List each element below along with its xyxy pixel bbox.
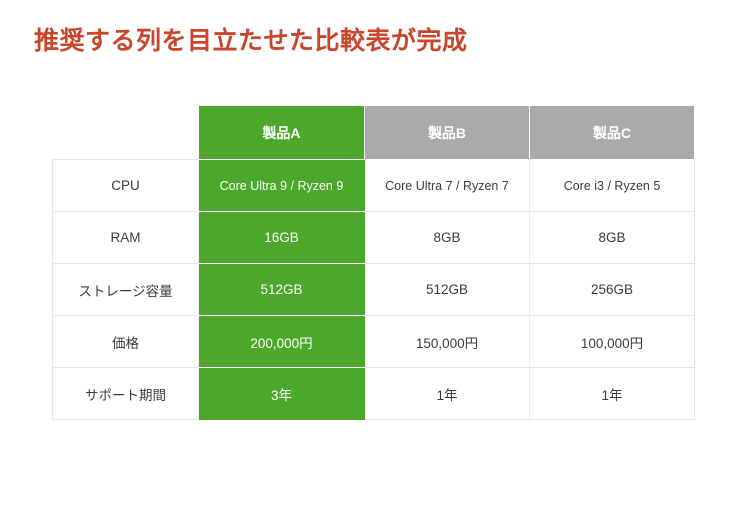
row-label-ram: RAM [53,212,199,264]
table-row: ストレージ容量 512GB 512GB 256GB [53,264,695,316]
table-header-row: 製品A 製品B 製品C [53,106,695,160]
table-corner-cell [53,106,199,160]
cell-price-product-c: 100,000円 [530,316,695,368]
cell-storage-product-b: 512GB [365,264,530,316]
cell-storage-product-a: 512GB [199,264,365,316]
table-body: CPU Core Ultra 9 / Ryzen 9 Core Ultra 7 … [53,160,695,420]
comparison-table: 製品A 製品B 製品C CPU Core Ultra 9 / Ryzen 9 C… [52,105,695,420]
table-header: 製品A 製品B 製品C [53,106,695,160]
table-row: RAM 16GB 8GB 8GB [53,212,695,264]
cell-cpu-product-c: Core i3 / Ryzen 5 [530,160,695,212]
cell-ram-product-c: 8GB [530,212,695,264]
cell-price-product-a: 200,000円 [199,316,365,368]
table-row: 価格 200,000円 150,000円 100,000円 [53,316,695,368]
comparison-table-container: 製品A 製品B 製品C CPU Core Ultra 9 / Ryzen 9 C… [52,105,694,420]
cell-ram-product-a: 16GB [199,212,365,264]
cell-ram-product-b: 8GB [365,212,530,264]
row-label-storage: ストレージ容量 [53,264,199,316]
column-header-product-c: 製品C [530,106,695,160]
cell-price-product-b: 150,000円 [365,316,530,368]
cell-support-period-product-b: 1年 [365,368,530,420]
row-label-cpu: CPU [53,160,199,212]
page-title: 推奨する列を目立たせた比較表が完成 [34,26,468,56]
row-label-support-period: サポート期間 [53,368,199,420]
cell-cpu-product-a: Core Ultra 9 / Ryzen 9 [199,160,365,212]
table-row: サポート期間 3年 1年 1年 [53,368,695,420]
row-label-price: 価格 [53,316,199,368]
cell-support-period-product-a: 3年 [199,368,365,420]
cell-storage-product-c: 256GB [530,264,695,316]
column-header-product-b: 製品B [365,106,530,160]
slide-canvas: 推奨する列を目立たせた比較表が完成 製品A 製品B 製品C CPU [0,0,740,505]
table-row: CPU Core Ultra 9 / Ryzen 9 Core Ultra 7 … [53,160,695,212]
cell-support-period-product-c: 1年 [530,368,695,420]
cell-cpu-product-b: Core Ultra 7 / Ryzen 7 [365,160,530,212]
column-header-product-a: 製品A [199,106,365,160]
